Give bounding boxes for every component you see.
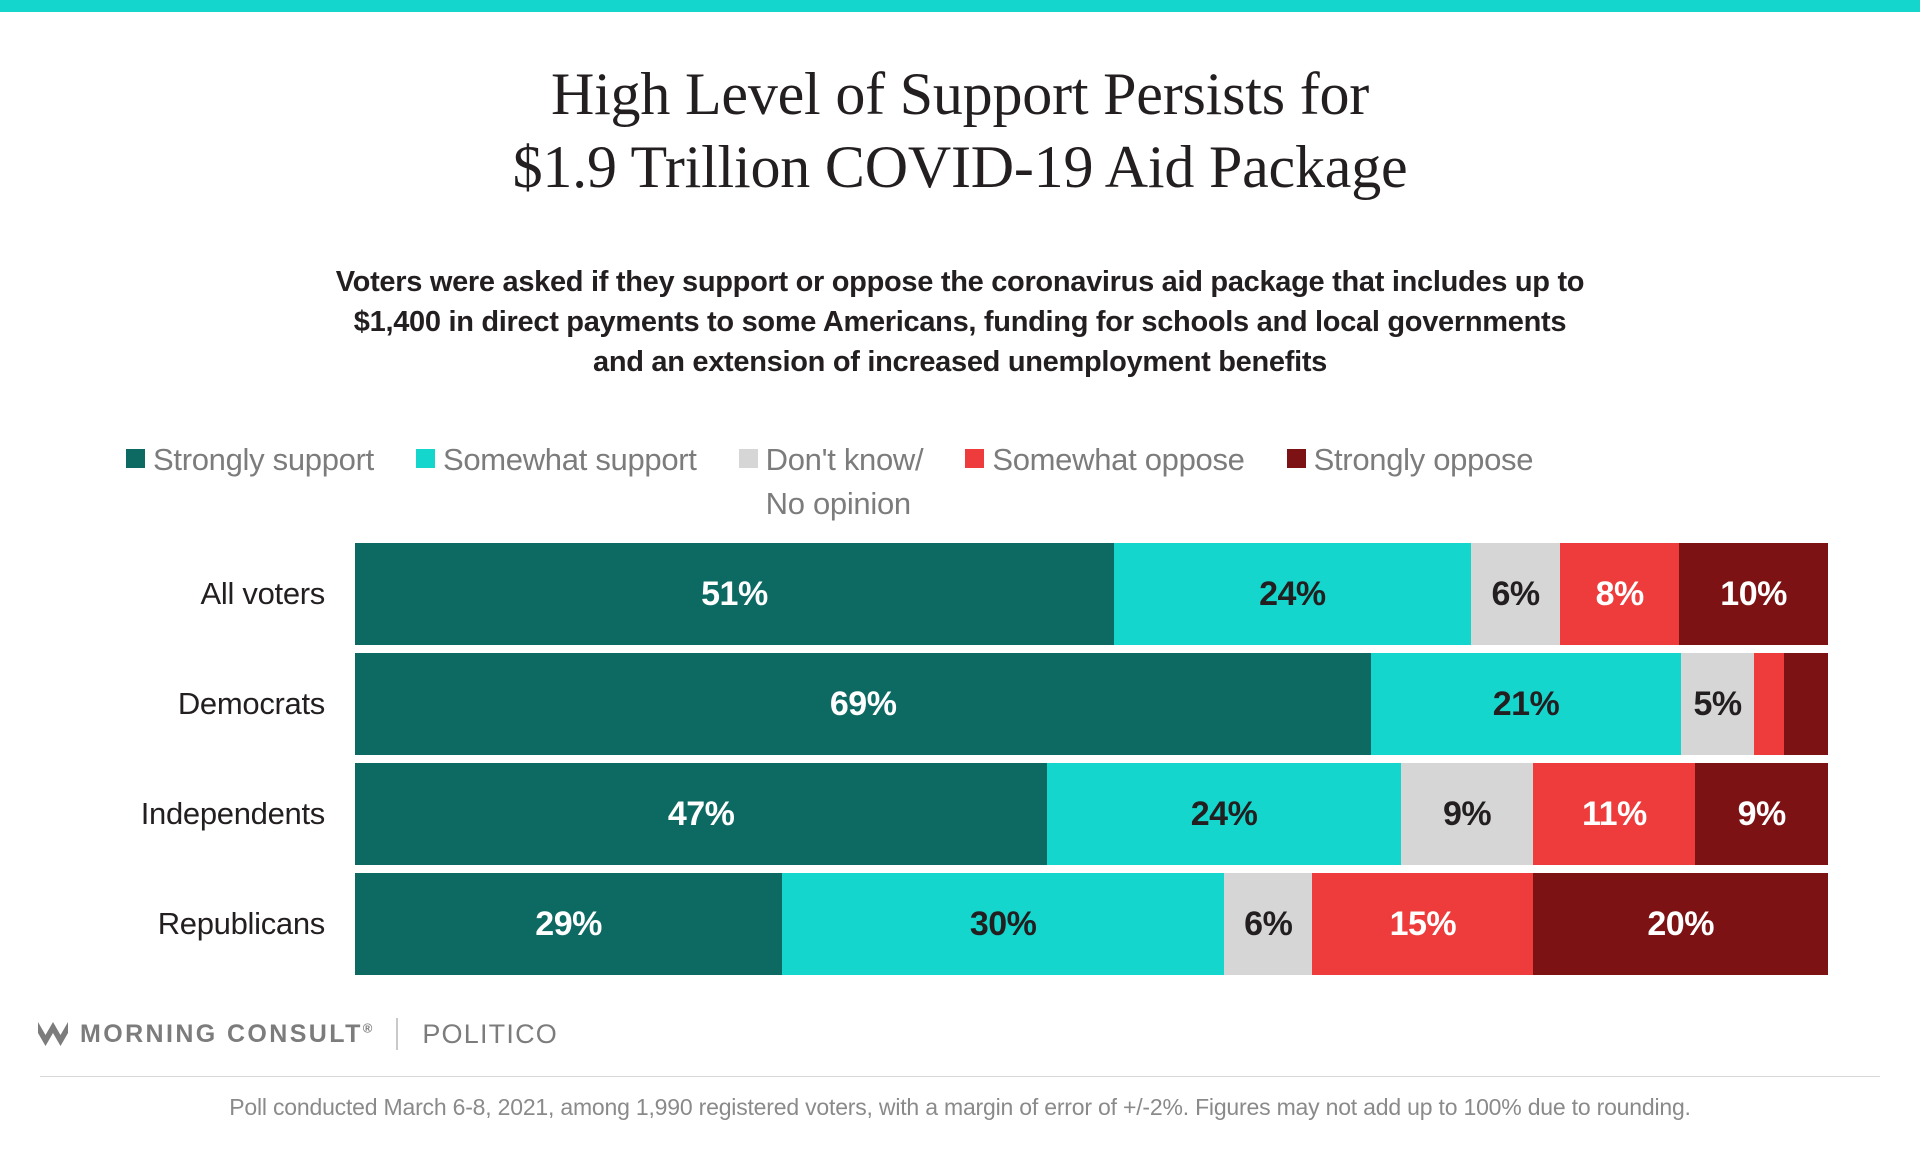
bar-segment[interactable]: 47% <box>355 763 1047 865</box>
legend-item[interactable]: Strongly support <box>126 438 374 482</box>
stacked-bar: 51%24%6%8%10% <box>355 543 1828 645</box>
stacked-bar: 47%24%9%11%9% <box>355 763 1828 865</box>
morning-consult-wordmark: MORNING CONSULT® <box>80 1020 372 1049</box>
bar-segment[interactable]: 30% <box>782 873 1224 975</box>
legend-swatch-icon <box>126 449 145 468</box>
bar-segment[interactable]: 29% <box>355 873 782 975</box>
bar-segment[interactable]: 9% <box>1401 763 1534 865</box>
row-label: Republicans <box>0 873 325 975</box>
legend-item-label: Somewhat oppose <box>992 438 1244 482</box>
stacked-bar: 29%30%6%15%20% <box>355 873 1828 975</box>
bar-segment[interactable]: 6% <box>1224 873 1312 975</box>
bar-segment[interactable]: 5% <box>1681 653 1755 755</box>
registered-mark: ® <box>363 1020 373 1035</box>
footer-note: Poll conducted March 6-8, 2021, among 1,… <box>0 1094 1920 1121</box>
title-line-2: $1.9 Trillion COVID-19 Aid Package <box>0 131 1920 204</box>
politico-wordmark: POLITICO <box>422 1019 558 1050</box>
subtitle-line-3: and an extension of increased unemployme… <box>0 342 1920 382</box>
legend-item-label: Strongly support <box>153 438 374 482</box>
title-line-1: High Level of Support Persists for <box>0 58 1920 131</box>
stacked-bar: 69%21%5% <box>355 653 1828 755</box>
legend-swatch-icon <box>1287 449 1306 468</box>
subtitle-line-2: $1,400 in direct payments to some Americ… <box>0 302 1920 342</box>
bar-segment[interactable]: 20% <box>1533 873 1828 975</box>
legend-item[interactable]: Don't know/ No opinion <box>739 438 924 526</box>
bar-segment[interactable]: 24% <box>1114 543 1471 645</box>
legend-swatch-icon <box>965 449 984 468</box>
footer-divider <box>40 1076 1880 1077</box>
legend-item-label: Somewhat support <box>443 438 697 482</box>
subtitle-line-1: Voters were asked if they support or opp… <box>0 262 1920 302</box>
bar-segment[interactable]: 10% <box>1679 543 1828 645</box>
morning-consult-logo-icon <box>38 1021 68 1047</box>
bar-segment[interactable]: 6% <box>1471 543 1560 645</box>
stacked-bar-chart: All voters51%24%6%8%10%Democrats69%21%5%… <box>0 543 1920 983</box>
chart-legend: Strongly supportSomewhat supportDon't kn… <box>126 438 1846 526</box>
legend-item-label: Don't know/ No opinion <box>766 438 924 526</box>
row-label: Democrats <box>0 653 325 755</box>
footer-logos: MORNING CONSULT® POLITICO <box>38 1018 558 1050</box>
legend-swatch-icon <box>416 449 435 468</box>
bar-segment[interactable]: 15% <box>1312 873 1533 975</box>
chart-row: Democrats69%21%5% <box>0 653 1920 755</box>
page-title: High Level of Support Persists for $1.9 … <box>0 58 1920 204</box>
chart-subtitle: Voters were asked if they support or opp… <box>0 262 1920 382</box>
bar-segment[interactable]: 21% <box>1371 653 1680 755</box>
logo-divider <box>396 1018 398 1050</box>
row-label: All voters <box>0 543 325 645</box>
top-accent-bar <box>0 0 1920 12</box>
chart-row: Independents47%24%9%11%9% <box>0 763 1920 865</box>
bar-segment[interactable] <box>1754 653 1783 755</box>
bar-segment[interactable]: 8% <box>1560 543 1679 645</box>
legend-item[interactable]: Somewhat oppose <box>965 438 1244 482</box>
bar-segment[interactable]: 9% <box>1695 763 1828 865</box>
legend-item[interactable]: Strongly oppose <box>1287 438 1534 482</box>
legend-item-label: Strongly oppose <box>1314 438 1534 482</box>
row-label: Independents <box>0 763 325 865</box>
legend-item[interactable]: Somewhat support <box>416 438 697 482</box>
legend-swatch-icon <box>739 449 758 468</box>
bar-segment[interactable]: 69% <box>355 653 1371 755</box>
bar-segment[interactable]: 11% <box>1533 763 1695 865</box>
chart-row: Republicans29%30%6%15%20% <box>0 873 1920 975</box>
chart-row: All voters51%24%6%8%10% <box>0 543 1920 645</box>
bar-segment[interactable] <box>1784 653 1828 755</box>
bar-segment[interactable]: 24% <box>1047 763 1401 865</box>
bar-segment[interactable]: 51% <box>355 543 1114 645</box>
